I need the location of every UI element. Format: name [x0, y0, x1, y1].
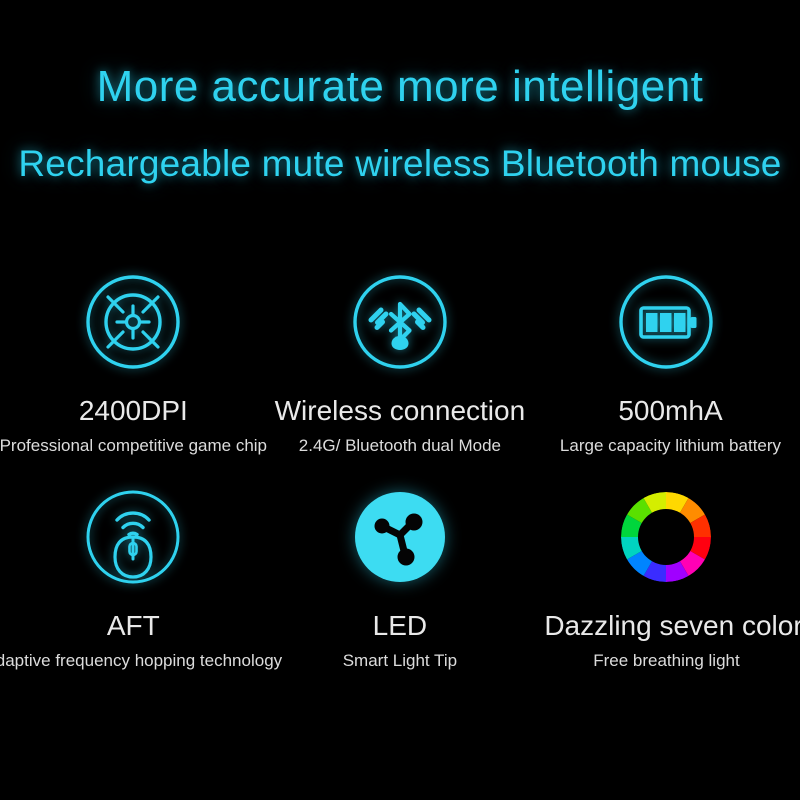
rainbow-color-wheel-icon [616, 487, 716, 587]
wifi-bluetooth-icon [350, 272, 450, 372]
feature-item-rgb: Dazzling seven colors Free breathing lig… [533, 470, 800, 685]
headline-secondary: Rechargeable mute wireless Bluetooth mou… [0, 138, 800, 190]
feature-icon-wrap [350, 477, 450, 597]
feature-icon-wrap [616, 477, 716, 597]
feature-icon-wrap [616, 262, 716, 382]
feature-title: 500mhA [618, 394, 722, 428]
feature-title: Wireless connection [275, 394, 526, 428]
feature-title: 2400DPI [79, 394, 188, 428]
feature-row-2: AFT Adaptive frequency hopping technolog… [0, 470, 800, 685]
feature-subtitle: Professional competitive game chip [0, 435, 267, 457]
banner-headings: More accurate more intelligent Rechargea… [0, 58, 800, 190]
feature-title: Dazzling seven colors [544, 609, 800, 643]
feature-title: LED [373, 609, 427, 643]
wireless-mouse-icon [83, 487, 183, 587]
feature-row-1: 2400DPI Professional competitive game ch… [0, 255, 800, 470]
feature-icon-wrap [83, 262, 183, 382]
feature-subtitle: Free breathing light [593, 650, 739, 672]
feature-subtitle: Smart Light Tip [343, 650, 457, 672]
feature-subtitle: Large capacity lithium battery [560, 435, 781, 457]
feature-item-led: LED Smart Light Tip [267, 470, 534, 685]
crosshair-target-icon [83, 272, 183, 372]
product-feature-banner: More accurate more intelligent Rechargea… [0, 0, 800, 800]
feature-item-battery: 500mhA Large capacity lithium battery [533, 255, 800, 470]
led-node-icon [350, 487, 450, 587]
feature-icon-wrap [83, 477, 183, 597]
feature-item-wireless: Wireless connection 2.4G/ Bluetooth dual… [267, 255, 534, 470]
feature-title: AFT [107, 609, 160, 643]
feature-item-dpi: 2400DPI Professional competitive game ch… [0, 255, 267, 470]
feature-subtitle: Adaptive frequency hopping technology [0, 650, 282, 672]
feature-subtitle: 2.4G/ Bluetooth dual Mode [299, 435, 501, 457]
feature-icon-wrap [350, 262, 450, 382]
feature-item-aft: AFT Adaptive frequency hopping technolog… [0, 470, 267, 685]
headline-primary: More accurate more intelligent [0, 58, 800, 116]
feature-grid: 2400DPI Professional competitive game ch… [0, 255, 800, 685]
battery-icon [616, 272, 716, 372]
